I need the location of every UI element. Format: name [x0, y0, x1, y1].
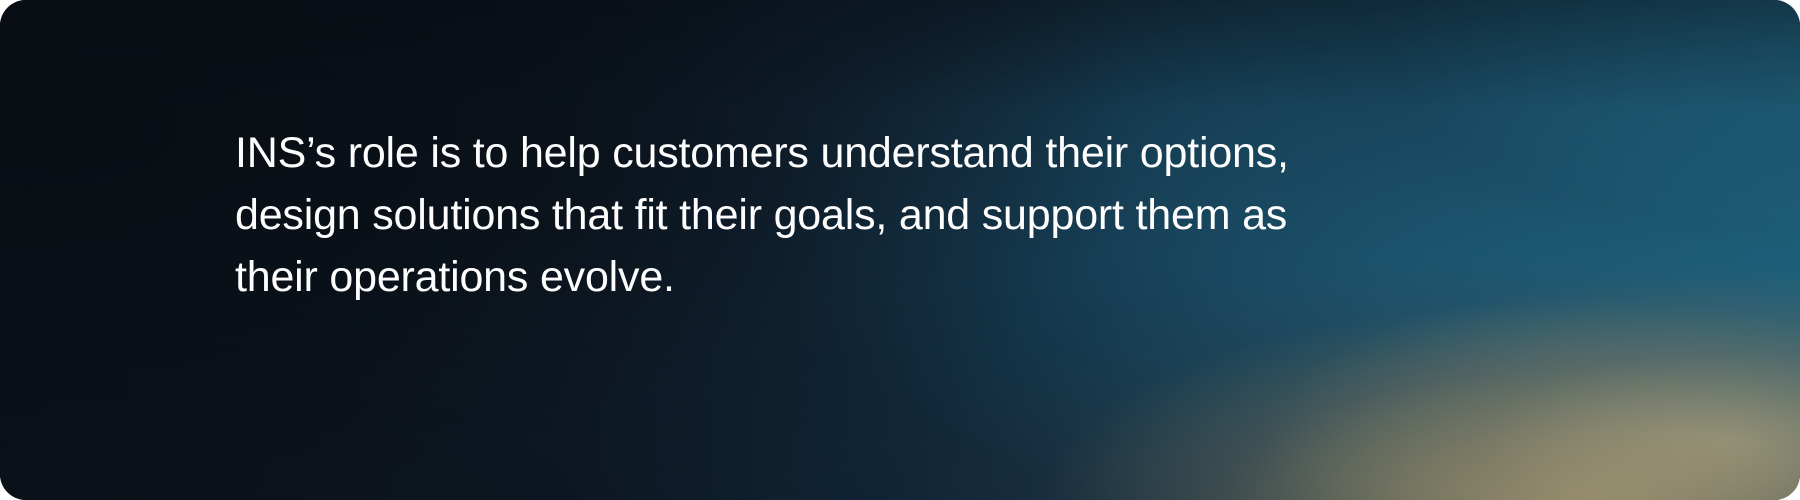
statement-hero-card: INS’s role is to help customers understa…: [0, 0, 1800, 500]
statement-content: INS’s role is to help customers understa…: [235, 122, 1415, 308]
statement-paragraph: INS’s role is to help customers understa…: [235, 122, 1415, 308]
